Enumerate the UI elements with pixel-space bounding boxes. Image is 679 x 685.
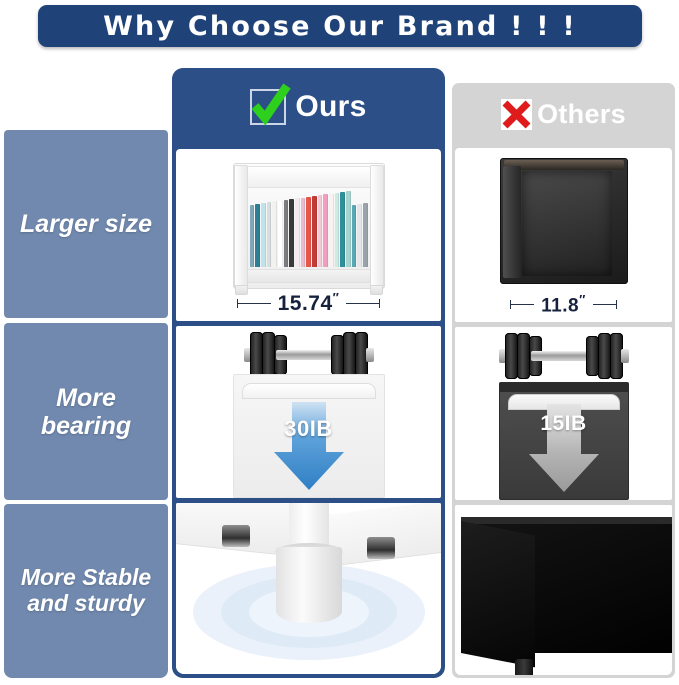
- ours-cell-larger-size: 15.74″: [176, 149, 441, 321]
- ours-dimension: 15.74″: [176, 290, 441, 316]
- dumbbell-icon: [244, 332, 374, 378]
- column-header-ours-label: Ours: [295, 90, 366, 124]
- others-dimension: 11.8″: [455, 292, 672, 317]
- book-spine: [335, 193, 340, 267]
- ours-dimension-value: 15.74″: [271, 290, 347, 316]
- feature-label-more-stable: More Stable and sturdy: [4, 504, 168, 678]
- book-spine: [295, 198, 300, 267]
- black-cube-shelf-image: [500, 158, 628, 284]
- white-cube-shelf-image: [233, 163, 385, 289]
- feature-label-text: More Stable and sturdy: [21, 565, 151, 617]
- column-header-others-label: Others: [537, 99, 626, 130]
- load-arrow-down-icon: 15IB: [527, 404, 601, 492]
- book-spine: [318, 195, 323, 267]
- feature-label-larger-size: Larger size: [4, 130, 168, 318]
- banner-title: Why Choose Our Brand ! ! !: [103, 11, 577, 42]
- book-spine: [357, 204, 362, 267]
- feature-label-text: Larger size: [20, 210, 152, 238]
- book-spine: [289, 199, 294, 267]
- book-spine: [323, 194, 328, 267]
- book-spine: [250, 205, 255, 267]
- feature-label-column: Larger size More bearing More Stable and…: [4, 130, 168, 678]
- others-column: 11.8″: [452, 145, 675, 678]
- book-spine: [312, 196, 317, 267]
- book-spine: [306, 197, 311, 267]
- book-spine: [267, 202, 272, 267]
- check-mark-icon: [250, 89, 286, 125]
- ours-cell-more-stable: [176, 503, 441, 674]
- banner: Why Choose Our Brand ! ! !: [38, 5, 642, 47]
- book-spine: [352, 205, 357, 267]
- book-spine: [284, 200, 289, 267]
- dumbbell-icon: [499, 333, 629, 379]
- book-spine: [278, 201, 283, 267]
- book-spine: [346, 191, 351, 267]
- book-spine: [329, 194, 334, 267]
- black-shelf-corner-image: [455, 505, 672, 675]
- column-header-others: Others: [452, 83, 675, 145]
- others-cell-more-bearing: 15IB: [455, 327, 672, 500]
- book-spine: [363, 203, 368, 267]
- others-capacity-label: 15IB: [527, 412, 601, 436]
- ours-column: 15.74″: [172, 145, 445, 678]
- book-spine: [261, 203, 266, 267]
- others-cell-larger-size: 11.8″: [455, 148, 672, 322]
- others-dimension-value: 11.8″: [534, 292, 593, 317]
- load-arrow-down-icon: 30IB: [272, 402, 346, 490]
- ours-capacity-label: 30IB: [272, 416, 346, 442]
- comparison-infographic: Why Choose Our Brand ! ! ! Ours Others L…: [0, 0, 679, 685]
- feature-label-more-bearing: More bearing: [4, 323, 168, 500]
- others-cell-more-stable: [455, 505, 672, 675]
- book-spine: [340, 192, 345, 267]
- column-header-ours: Ours: [172, 68, 445, 145]
- ours-cell-more-bearing: 30IB: [176, 326, 441, 498]
- book-row: [250, 189, 368, 267]
- book-spine: [301, 198, 306, 267]
- stability-leg-image: [176, 503, 441, 674]
- book-spine: [272, 201, 277, 267]
- cross-mark-icon: [501, 99, 532, 130]
- feature-label-text: More bearing: [41, 384, 131, 440]
- book-spine: [255, 204, 260, 267]
